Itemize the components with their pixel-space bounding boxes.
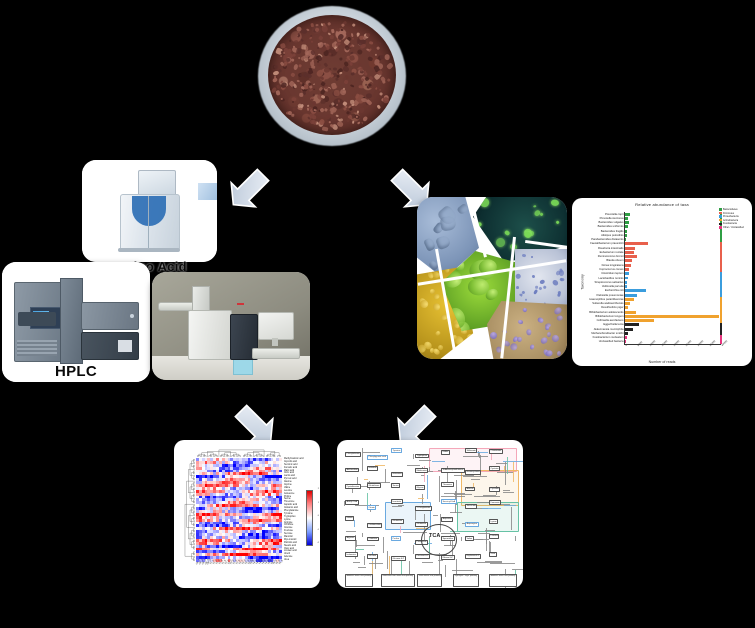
bar-category-label: Unclassified bacteria — [599, 340, 624, 343]
microbe-cell — [540, 212, 545, 216]
heatmap-row-label: Tyrosine — [284, 513, 293, 515]
bar-value — [625, 302, 630, 305]
grain-speck — [349, 61, 353, 66]
microbe-cell — [533, 289, 538, 295]
pathway-legend-box: Glycolysis / sugar pathway — [453, 574, 479, 587]
grain-speck — [376, 46, 380, 50]
bar-chart-row: Prevotella stercorea — [625, 217, 721, 220]
heatmap-colorbar — [306, 490, 313, 546]
grain-speck — [297, 35, 301, 39]
grain-speck — [364, 76, 369, 81]
bar-category-label: Klebsiella pneumoniae — [596, 294, 623, 297]
grain-speck — [352, 23, 356, 27]
bar-category-label: Eggerthella lenta — [603, 323, 623, 326]
legend-swatch — [719, 219, 722, 221]
legend-label: Fusobacteria — [723, 222, 737, 225]
grain-speck — [351, 121, 354, 124]
microbe-cell — [556, 315, 563, 321]
heatmap-row-label: Fumaric acid — [284, 467, 297, 469]
legend-item: Other / Unclassified — [719, 226, 749, 229]
legend-swatch — [719, 226, 722, 228]
heatmap-column-label: T5_5 — [279, 560, 284, 565]
bar-chart-title: Relative abundance of taxa — [572, 202, 752, 207]
grain-speck — [344, 79, 349, 84]
pathway-legend-box: Branched-chain amino acid pathway — [381, 574, 415, 587]
microbe-cell — [550, 200, 559, 207]
microbe-cell — [540, 336, 549, 345]
bar-category-label: Dorea longicatena — [602, 264, 624, 267]
gcms-keyboard — [252, 348, 300, 359]
gcms-oven — [188, 310, 232, 360]
panel-metabolic-pathway-map: PhenylalaninePhenylpyruvic acidTyrosineT… — [337, 440, 523, 588]
microbe-cell — [551, 334, 560, 344]
pathway-node: Methionine — [415, 468, 428, 473]
grain-speck — [294, 40, 299, 43]
grain-speck — [308, 107, 311, 109]
bar-value — [625, 264, 631, 267]
bar-value — [625, 306, 628, 309]
bar-chart-row: Prevotella copri — [625, 213, 721, 216]
grain-speck — [361, 121, 363, 124]
grain-speck — [319, 107, 324, 112]
heatmap-row-label: Sucrose — [284, 533, 292, 535]
hplc-pump-module — [81, 302, 139, 330]
hplc-detector-panel — [118, 340, 132, 352]
bar-value — [625, 294, 637, 297]
microbe-cell — [504, 231, 510, 237]
grain-speck — [376, 41, 380, 45]
heatmap-row-label: Mannitol — [284, 536, 293, 538]
heatmap-row-label: Ornithine — [284, 524, 293, 526]
heatmap-row-label: Valine — [284, 487, 290, 489]
pathway-node: Serine — [391, 483, 400, 488]
legend-swatch — [719, 223, 722, 225]
microbe-cell — [526, 329, 531, 336]
bar-value — [625, 234, 627, 237]
grain-speck — [330, 74, 335, 79]
grain-speck — [380, 54, 385, 59]
bar-value — [625, 225, 628, 228]
bar-chart-ylabel: Taxonomy — [581, 274, 585, 289]
bar-chart-row: Lactobacillus ruminis — [625, 277, 721, 280]
hplc-vent — [17, 340, 57, 356]
grain-speck — [334, 90, 340, 96]
grain-speck — [312, 101, 316, 105]
grain-speck — [368, 48, 372, 52]
grain-speck — [301, 39, 304, 42]
grain-speck — [299, 81, 302, 84]
heatmap-row-label: Urea — [284, 559, 289, 561]
grain-sample — [268, 15, 396, 135]
bar-category-label: Prevotella copri — [605, 213, 624, 216]
bar-category-label: Sutterella wadsworthensis — [592, 302, 623, 305]
grain-speck — [369, 41, 374, 45]
sem-blue-cluster-image — [515, 249, 567, 311]
grain-speck — [300, 103, 304, 108]
grain-speck — [273, 70, 280, 76]
bar-chart-row: Desulfovibrio piger — [625, 306, 721, 309]
microbe-cell — [430, 289, 436, 294]
microbe-cell — [545, 349, 553, 357]
bar-group-spine — [720, 297, 722, 323]
grain-speck — [330, 35, 335, 39]
bar-chart-row: Eubacterium rectale — [625, 251, 721, 254]
microbe-cell — [522, 254, 526, 258]
gcms-status-indicator — [237, 303, 244, 305]
grain-speck — [345, 74, 349, 79]
colorbar-tick: -2 — [317, 542, 319, 544]
microbe-cell — [433, 293, 440, 300]
bar-chart-row: Klebsiella pneumoniae — [625, 294, 721, 297]
pathway-node: 2-Oxoglutarate — [415, 506, 432, 511]
bar-category-label: Prevotella stercorea — [600, 217, 624, 220]
bar-value — [625, 272, 629, 275]
microbe-cell — [439, 216, 456, 232]
analyzer-screen — [198, 183, 217, 200]
bar-value — [625, 315, 719, 318]
microbe-cell — [516, 274, 522, 280]
legend-swatch — [719, 215, 722, 217]
bar-value — [625, 251, 634, 254]
pathway-node: Phenylalanine — [345, 452, 361, 457]
bar-chart-row: Bacteroides uniformis — [625, 225, 721, 228]
amino-acid-analyzer-image — [82, 160, 217, 262]
microbe-cell — [531, 256, 534, 258]
bar-chart-row: Clostridium leptum — [625, 272, 721, 275]
bar-chart-row: Streptococcus salivarius — [625, 281, 721, 284]
grain-speck — [310, 40, 313, 43]
bar-value — [625, 281, 627, 284]
panel-amino-acid-analyzer — [82, 160, 217, 262]
bar-category-label: Eubacterium rectale — [600, 251, 624, 254]
bar-category-label: Veillonella parvula — [602, 285, 624, 288]
bar-value — [625, 277, 628, 280]
gcms-monitor — [258, 312, 294, 340]
pathway-node: Shikimate — [465, 448, 477, 453]
tca-cycle-ring — [421, 524, 457, 556]
bar-value — [625, 268, 629, 271]
grain-speck — [310, 23, 314, 27]
microbe-cell — [516, 285, 519, 289]
grain-speck — [355, 93, 360, 99]
microbe-cell — [481, 329, 487, 336]
grain-speck — [313, 89, 315, 90]
grain-speck — [311, 65, 315, 69]
pathway-node: Arginine — [345, 536, 356, 541]
bar-value — [625, 336, 627, 339]
grain-speck — [310, 50, 316, 56]
bar-category-label: Methanobrevibacter smithii — [591, 332, 623, 335]
grain-speck — [349, 55, 355, 61]
sample-bowl — [258, 6, 406, 146]
grain-speck — [324, 108, 328, 112]
grain-speck — [298, 64, 302, 68]
heatmap-grid — [196, 458, 282, 562]
heatmap-row-label: Succinic acid — [284, 464, 297, 466]
heatmap-row-label: Oleic acid — [284, 548, 294, 550]
grain-speck — [330, 82, 336, 89]
bar-value — [625, 285, 627, 288]
pathway-diagram: PhenylalaninePhenylpyruvic acidTyrosineT… — [337, 440, 523, 588]
microbe-cell — [538, 287, 542, 291]
pathway-node: Chorismate — [489, 449, 503, 454]
bar-chart-row: Dorea longicatena — [625, 264, 721, 267]
grain-speck — [349, 107, 353, 111]
bar-chart-row: Escherichia coli — [625, 289, 721, 292]
pathway-node: Glutamine — [415, 522, 428, 527]
bar-chart-row: Bifidobacterium adolescentis — [625, 311, 721, 314]
microbe-cell — [556, 351, 561, 357]
pathway-node: Cysteine — [489, 466, 500, 471]
microbe-cell — [431, 301, 441, 311]
microbe-cell — [552, 279, 560, 287]
analyzer-base — [118, 248, 180, 252]
pathway-node: Fructose-6-P — [415, 554, 430, 559]
grain-speck — [352, 104, 355, 106]
bar-chart-row: Sutterella wadsworthensis — [625, 302, 721, 305]
grain-speck — [290, 73, 296, 79]
pathway-node: Homocysteine — [465, 470, 481, 475]
bar-value — [625, 242, 648, 245]
bar-category-label: Fusobacterium nucleatum — [593, 336, 624, 339]
heatmap-row-label: Adenine — [284, 556, 292, 558]
bar-value — [625, 247, 635, 250]
heatmap-row-label: Methylmalonic acid — [284, 458, 304, 460]
grain-speck — [365, 73, 368, 76]
hplc-autosampler-drawer — [18, 312, 56, 326]
gcms-monitor-stand — [272, 338, 278, 346]
bar-value — [625, 323, 639, 326]
heatmap-row-label: Aspartic acid — [284, 504, 297, 506]
pathway-node: Glutathione — [367, 483, 381, 488]
figure-canvas: Amino Acid HPLC — [0, 0, 755, 628]
heatmap-row-label: Palmitic acid — [284, 542, 297, 544]
legend-swatch — [719, 208, 722, 210]
bar-category-label: Bacteroides vulgatus — [599, 221, 624, 224]
microbe-cell — [482, 340, 489, 346]
heatmap-top-dendrogram — [196, 446, 282, 457]
bar-group-spine — [720, 323, 722, 336]
bar-value — [625, 328, 633, 331]
grain-speck — [292, 107, 296, 111]
grain-speck — [327, 22, 331, 26]
pathway-node: Leucine — [489, 534, 499, 539]
grain-speck — [367, 56, 373, 62]
microbe-cell — [561, 278, 565, 282]
legend-item: Fusobacteria — [719, 222, 749, 225]
bar-category-label: Akkermansia muciniphila — [594, 328, 624, 331]
pathway-node: Histamine — [391, 472, 403, 477]
legend-label: Actinobacteria — [723, 219, 738, 222]
bar-value — [625, 230, 627, 233]
grain-speck — [356, 48, 363, 55]
bar-value — [625, 259, 632, 262]
pathway-node: Tyrosine — [391, 448, 402, 453]
pathway-node: Indole — [441, 450, 450, 455]
grain-speck — [346, 32, 350, 36]
microbe-cell — [530, 344, 535, 350]
pathway-legend-box: Aromatic amino acid pathway — [345, 574, 373, 587]
hplc-indicator-led — [130, 314, 134, 318]
pathway-node: Isocitrate — [391, 499, 403, 504]
legend-label: Proteobacteria — [723, 215, 739, 218]
grain-speck — [350, 33, 353, 37]
grain-speck — [304, 74, 307, 77]
pathway-node: Isoleucine — [345, 552, 358, 557]
pathway-node: Alanine — [465, 487, 475, 492]
grain-speck — [374, 54, 377, 57]
pathway-node: Malate — [345, 516, 354, 521]
microbe-cell — [556, 221, 560, 226]
analyzer-monitor — [138, 170, 176, 196]
colorbar-tick: 0 — [318, 515, 319, 517]
bar-chart-plot-area: Prevotella copriPrevotella stercoreaBact… — [624, 212, 721, 345]
pathway-node: Ornithine — [367, 537, 379, 542]
heatmap-row-label: Leucine — [284, 490, 292, 492]
bar-category-label: Roseburia intestinalis — [598, 247, 624, 250]
grain-speck — [331, 29, 334, 33]
microbe-cell — [521, 291, 525, 295]
bar-value — [625, 298, 634, 301]
bar-chart-xtick: 0 — [625, 344, 628, 347]
panel-taxa-bar-chart: Relative abundance of taxa Taxonomy Numb… — [572, 198, 752, 366]
grain-speck — [320, 100, 325, 104]
grain-speck — [359, 85, 364, 89]
pathway-node: Anthranilate — [345, 468, 359, 473]
bar-chart-legend: BacteroidetesFirmicutesProteobacteriaAct… — [719, 208, 749, 230]
grain-speck — [351, 73, 355, 76]
bar-chart-row: Bifidobacterium longum — [625, 315, 721, 318]
tca-cycle-label: TCA — [429, 533, 440, 539]
pathway-legend-box: Sulfur amino acid pathway — [417, 574, 442, 587]
pathway-node: Tryptophan — [415, 454, 429, 459]
grain-speck — [313, 83, 315, 85]
bar-category-label: Faecalibacterium prausnitzii — [590, 242, 623, 245]
microbe-cell — [532, 275, 536, 279]
panel-metabolite-heatmap: Methylmalonic acidGlycolic acidSuccinic … — [174, 440, 320, 588]
grain-speck — [309, 35, 312, 37]
grain-speck — [271, 77, 277, 83]
grain-speck — [321, 127, 328, 132]
pathway-node: Histidine — [367, 466, 378, 471]
hplc-column-tower — [60, 278, 83, 364]
bar-chart-row: Bacteroides fragilis — [625, 230, 721, 233]
grain-speck — [327, 88, 331, 93]
grain-speck — [335, 47, 339, 52]
grain-speck — [377, 104, 381, 109]
microbe-cell — [522, 307, 527, 312]
microbe-cell — [509, 342, 518, 351]
bar-value — [625, 319, 654, 322]
bar-chart-row: Fusobacterium nucleatum — [625, 336, 721, 339]
microbe-cell — [488, 330, 498, 340]
microbe-cell — [456, 203, 469, 215]
pathway-node: Glucose — [367, 554, 378, 559]
grain-speck — [276, 90, 281, 96]
grain-speck — [291, 97, 296, 101]
bar-category-label: Alistipes putredinis — [601, 234, 623, 237]
bar-group-spine — [720, 272, 722, 298]
pathway-node: Erythrose-4-P — [465, 554, 481, 559]
pathway-node: Cystathionine — [345, 484, 361, 489]
pathway-node: Succinate — [465, 504, 477, 509]
heatmap-row-label: Fructose — [284, 530, 293, 532]
grain-speck — [356, 33, 359, 36]
bar-chart-row: Haemophilus parainfluenzae — [625, 298, 721, 301]
pathway-node: Aspartate — [441, 517, 453, 522]
grain-speck — [352, 38, 354, 40]
microbe-cell — [476, 346, 484, 356]
sem-purple-cluster-image — [487, 301, 567, 359]
hplc-detector-module — [81, 332, 139, 360]
pathway-node: Glucose-6-P — [391, 556, 406, 561]
bar-chart-xlabel: Number of reads — [572, 360, 752, 364]
pathway-node: Acetyl-CoA — [345, 500, 359, 505]
grain-speck — [297, 80, 300, 82]
grain-speck — [341, 28, 345, 31]
bar-value — [625, 332, 628, 335]
microbe-cell — [474, 335, 484, 345]
colorbar-tick: 2 — [318, 488, 319, 490]
gcms-control-screen — [233, 359, 253, 375]
pathway-node: S-Adenosylmethionine — [441, 468, 465, 473]
pathway-node: Glycine — [415, 485, 425, 490]
bar-category-label: Haemophilus parainfluenzae — [589, 298, 623, 301]
legend-item: Firmicutes — [719, 212, 749, 215]
grain-speck — [340, 57, 343, 60]
heatmap-row-label: Alanine — [284, 481, 292, 483]
pathway-node: Glutamate — [391, 519, 404, 524]
bar-value — [625, 289, 646, 292]
bar-value — [625, 255, 637, 258]
microbe-cell — [545, 326, 550, 331]
bar-category-label: Streptococcus salivarius — [595, 281, 624, 284]
pathway-node: Valine — [465, 536, 474, 541]
grain-speck — [351, 47, 354, 50]
pathway-node: Urea — [489, 552, 497, 557]
bar-category-label: Desulfovibrio piger — [601, 306, 623, 309]
bar-chart-row: Bacteroides vulgatus — [625, 221, 721, 224]
microbe-cell — [524, 299, 527, 302]
grain-speck — [382, 80, 386, 84]
grain-speck — [318, 35, 323, 40]
bar-group-spine — [720, 242, 722, 272]
grain-speck — [346, 118, 351, 123]
legend-label: Bacteroidetes — [723, 208, 738, 211]
heatmap-row-label: Isoleucine — [284, 493, 294, 495]
grain-speck — [382, 96, 390, 104]
colorbar-tick: 1 — [318, 502, 319, 504]
bar-chart-row: Methanobrevibacter smithii — [625, 332, 721, 335]
bar-value — [625, 221, 629, 224]
pathway-legend-box: Aromatic amino acid pathway — [489, 574, 517, 587]
microbe-cell — [478, 197, 491, 209]
hplc-label: HPLC — [2, 363, 150, 380]
heatmap-row-label: Glycolic acid — [284, 461, 297, 463]
grain-speck — [386, 62, 394, 70]
bar-chart-row: Roseburia intestinalis — [625, 247, 721, 250]
microbe-cell — [537, 316, 545, 323]
microbe-cell — [533, 205, 537, 208]
grain-speck — [340, 71, 343, 74]
grain-speck — [329, 121, 332, 123]
pathway-node: Threonine — [441, 482, 454, 487]
legend-label: Firmicutes — [723, 212, 734, 215]
bar-category-label: Bacteroides uniformis — [598, 225, 624, 228]
heatmap-row-label: Phenylalanine — [284, 510, 298, 512]
gcms-image — [152, 272, 310, 380]
heatmap-row-label: Pyruvic acid — [284, 478, 296, 480]
